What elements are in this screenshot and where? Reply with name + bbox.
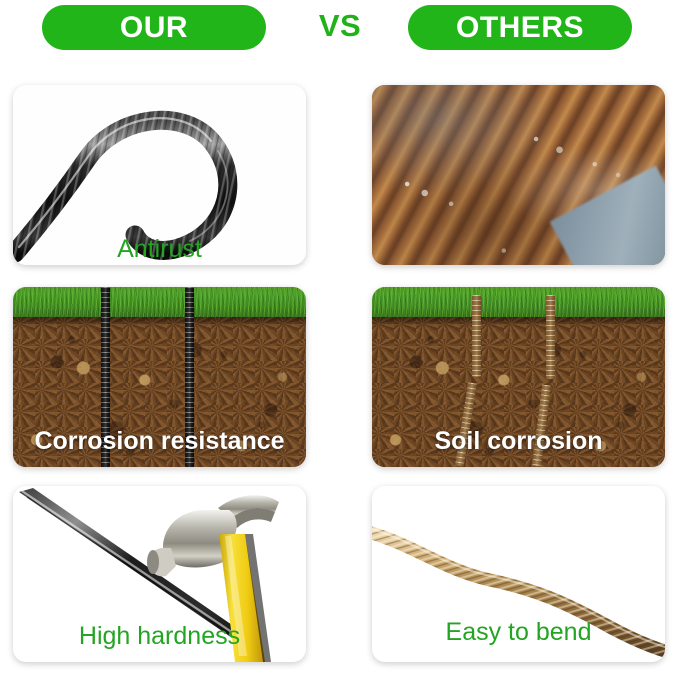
intact-black-stake-left [101, 287, 110, 467]
vs-label: VS [300, 8, 380, 44]
soil-layer [372, 317, 665, 467]
soil-layer [13, 317, 306, 467]
panel-our-antirust: Antirust [13, 85, 306, 265]
soil-top-shadow [372, 317, 665, 327]
scene-rusty-rebar-bundle: Rust [372, 85, 665, 265]
grass-layer [13, 287, 306, 317]
panel-our-high-hardness: High hardness [13, 486, 306, 662]
scene-bent-wavy-rebar: Easy to bend [372, 486, 665, 662]
panel-others-rust: Rust [372, 85, 665, 265]
scene-black-j-hook-stake: Antirust [13, 85, 306, 265]
intact-black-stake-right [185, 287, 194, 467]
wavy-rusty-rebar-illustration [372, 486, 665, 662]
our-badge: OUR [42, 5, 266, 50]
grass-layer [372, 287, 665, 317]
scene-black-stake-with-hammer: High hardness [13, 486, 306, 662]
scene-black-stakes-in-soil: Corrosion resistance [13, 287, 306, 467]
panel-our-corrosion-resistance: Corrosion resistance [13, 287, 306, 467]
j-hook-stake-illustration [13, 85, 306, 265]
rust-mineral-specks [372, 85, 665, 265]
stake-and-hammer-illustration [13, 486, 306, 662]
soil-top-shadow [13, 317, 306, 327]
claw-hammer [147, 495, 279, 662]
panel-others-easy-to-bend: Easy to bend [372, 486, 665, 662]
others-badge: OTHERS [408, 5, 632, 50]
panel-others-soil-corrosion: Soil corrosion [372, 287, 665, 467]
corroded-stake-left-upper [472, 295, 481, 377]
header-bar: OUR VS OTHERS [0, 0, 679, 56]
corroded-stake-right-upper [546, 295, 555, 379]
scene-corroded-broken-stakes-in-soil: Soil corrosion [372, 287, 665, 467]
